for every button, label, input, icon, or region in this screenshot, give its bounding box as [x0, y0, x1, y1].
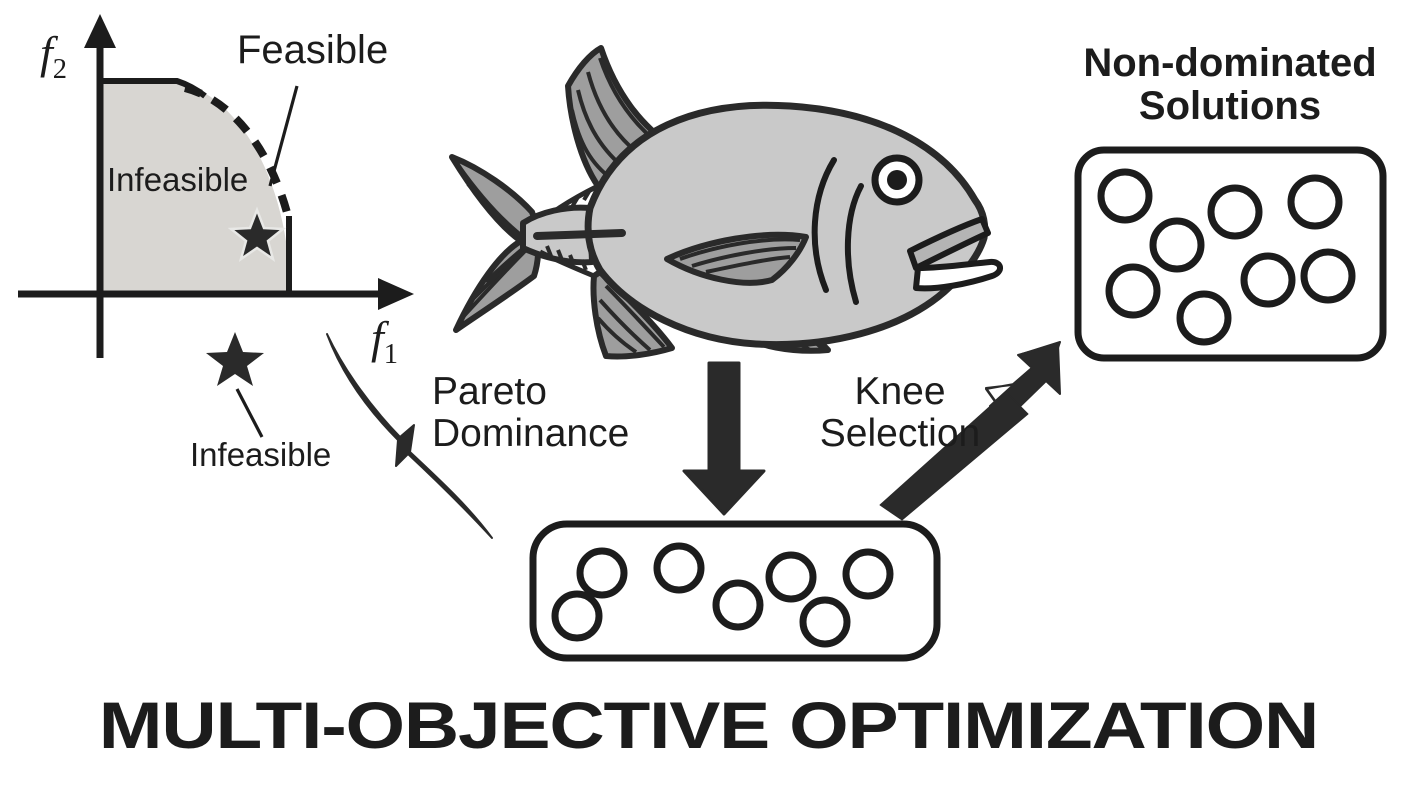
objective-space-plot [18, 14, 414, 437]
solution-circle [1291, 178, 1339, 226]
x-axis-arrowhead [378, 278, 414, 310]
infeasible-outside-label: Infeasible [190, 437, 331, 473]
solution-circle [1109, 267, 1157, 315]
solution-circle [846, 552, 890, 596]
fish-lateral-line [537, 233, 622, 236]
figure-canvas: f2 f1 Feasible Infeasible Infeasible Par… [0, 0, 1417, 798]
solution-circle [1180, 294, 1228, 342]
solution-circle [1101, 172, 1149, 220]
pareto-dominance-label-line2: Dominance [432, 413, 629, 455]
solution-circle [716, 583, 760, 627]
axis-label-f1: f1 [371, 311, 398, 371]
fish-body [588, 105, 985, 344]
nondominated-solutions-title: Non-dominated Solutions [1060, 42, 1400, 128]
solution-circle [657, 546, 701, 590]
pareto-dominance-label: Pareto Dominance [432, 371, 629, 455]
fish-mouth-lower [916, 262, 1000, 288]
feasible-label: Feasible [237, 29, 388, 72]
solution-circle [580, 551, 624, 595]
population-box[interactable] [533, 524, 937, 658]
figure-title: MULTI-OBJECTIVE OPTIMIZATION [0, 690, 1417, 761]
feasible-leader-line [270, 86, 297, 186]
solution-circle [1153, 221, 1201, 269]
axis-label-f2: f2 [40, 26, 67, 86]
solution-circle [1244, 256, 1292, 304]
trevally-fish-illustration [452, 48, 1000, 357]
infeasible-point-outside [206, 332, 264, 386]
knee-selection-label: Knee Selection [800, 371, 1000, 455]
population-down-arrow [684, 363, 764, 514]
solution-circle [1304, 252, 1352, 300]
solution-circle [1211, 188, 1259, 236]
pareto-dominance-label-line1: Pareto [432, 371, 629, 413]
knee-selection-label-line1: Knee [800, 371, 1000, 413]
y-axis-arrowhead [84, 14, 116, 48]
infeasible-region-label: Infeasible [107, 162, 248, 198]
nondominated-box[interactable] [1078, 150, 1383, 358]
infeasible-outside-leader-line [237, 389, 262, 437]
solution-circle [803, 600, 847, 644]
fish-eye-pupil [887, 170, 907, 190]
knee-selection-label-line2: Selection [800, 413, 1000, 455]
solution-circle [555, 594, 599, 638]
solution-circle [769, 555, 813, 599]
